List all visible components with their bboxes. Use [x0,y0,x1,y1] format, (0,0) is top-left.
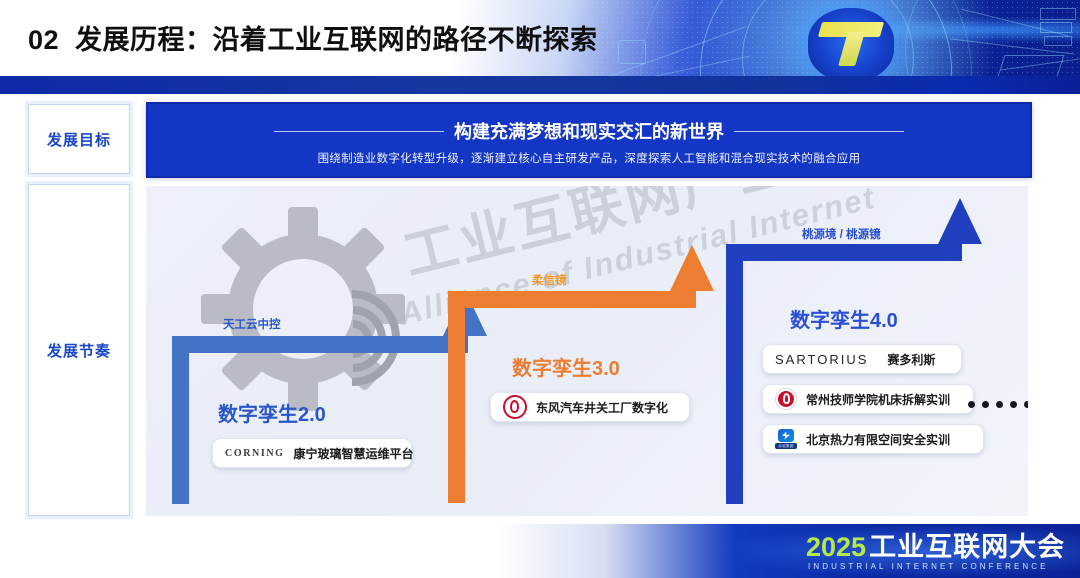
slide-body: 发展目标 发展节奏 构建充满梦想和现实交汇的新世界 围绕制造业数字化转型升级，逐… [0,94,1080,524]
stage-2-title: 数字孪生2.0 [218,398,326,427]
goal-banner: 构建充满梦想和现实交汇的新世界 围绕制造业数字化转型升级，逐渐建立核心自主研发产… [146,102,1032,178]
conference-logo: 2025 工业互联网大会 [806,534,1065,561]
stage-2-card-1-label: 康宁玻璃智慧运维平台 [294,445,414,462]
sartorius-logo: SARTORIUS [775,352,868,367]
sidebar-item-rhythm[interactable]: 发展节奏 [28,184,130,516]
goal-title-row: 构建充满梦想和现实交汇的新世界 [148,118,1030,144]
stage-3-title: 数字孪生3.0 [512,352,620,381]
stage-4-card-1[interactable]: SARTORIUS 赛多利斯 [762,344,962,374]
slide-root: 02 发展历程：沿着工业互联网的路径不断探索 发展目标 发展节奏 构建充满梦想和… [0,0,1080,578]
t-logo-icon [820,22,882,66]
stage-4-card-2-label: 常州技师学院机床拆解实训 [806,391,950,408]
stage-4-label: 桃源境 / 桃源镜 [802,226,881,242]
goal-title: 构建充满梦想和现实交汇的新世界 [454,118,724,144]
sidebar-item-goal-label: 发展目标 [47,129,111,150]
goal-rule-left [274,131,444,132]
goal-subtitle: 围绕制造业数字化转型升级，逐渐建立核心自主研发产品，深度探索人工智能和混合现实技… [148,150,1030,166]
stage-arrow-4 [726,244,976,504]
page-title: 02 发展历程：沿着工业互联网的路径不断探索 [28,18,598,57]
beijing-relidu-logo: 京能集团 [775,429,797,449]
goal-rule-right [734,131,904,132]
stage-3-card-1-label: 东风汽车井关工厂数字化 [536,399,668,416]
stage-3-label: 柔信镜 [532,272,567,288]
stage-3-card-1[interactable]: 东风汽车井关工厂数字化 [490,392,690,422]
banner-shape [618,40,646,64]
page-title-number: 02 [28,25,59,55]
sidebar-item-goal[interactable]: 发展目标 [28,104,130,174]
stage-4-title: 数字孪生4.0 [790,304,898,333]
conference-name-cn: 工业互联网大会 [869,534,1065,561]
continuation-dots [968,401,1028,408]
stage-4-card-3[interactable]: 京能集团 北京热力有限空间安全实训 [762,424,984,454]
beijing-relidu-logo-text: 京能集团 [775,443,797,449]
page-title-text: 发展历程：沿着工业互联网的路径不断探索 [75,25,598,55]
corning-logo: CORNING [225,448,285,459]
header-underbar-right [780,76,1080,94]
conference-year: 2025 [806,534,866,561]
dongfeng-logo [503,395,527,419]
stage-2-card-1[interactable]: CORNING 康宁玻璃智慧运维平台 [212,438,412,468]
stage-4-card-2[interactable]: 常州技师学院机床拆解实训 [762,384,974,414]
roadmap-canvas: 工业互联网产业联盟 Alliance of Industrial Interne… [146,186,1028,516]
banner-shape [1044,36,1072,46]
banner-shape [1040,8,1076,20]
banner-shape [1040,22,1072,33]
changzhou-logo [775,388,797,410]
stage-4-card-3-label: 北京热力有限空间安全实训 [806,431,950,448]
stage-2-label: 天工云中控 [223,316,281,332]
stage-4-card-1-label: 赛多利斯 [887,351,935,368]
conference-name-en: INDUSTRIAL INTERNET CONFERENCE [808,562,1049,571]
sidebar-item-rhythm-label: 发展节奏 [47,340,111,361]
